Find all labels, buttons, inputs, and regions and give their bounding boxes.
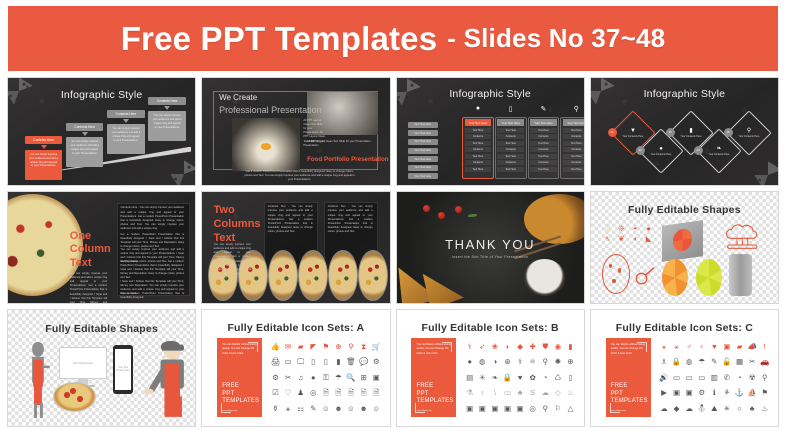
- slide-thumb-two-columns-text[interactable]: Two Columns Text You can simply impress …: [201, 191, 390, 304]
- facebook-icon: ▣: [489, 401, 501, 416]
- header-banner: Free PPT Templates - Slides No 37~48: [8, 6, 778, 71]
- photo-pizza-round: [328, 250, 358, 301]
- phone-icon: ▯: [320, 355, 332, 370]
- accent-text: Food Portfolio Presentation: [307, 156, 388, 163]
- cloud-icon: ☁: [658, 401, 670, 416]
- pin-icon: ⚲: [345, 339, 357, 354]
- table-cell: Text Here: [497, 141, 524, 146]
- scissors-icon: ✂: [746, 355, 758, 370]
- slide-thumb-icon-sets-c[interactable]: Fully Editable Icon Sets: C You can Resi…: [590, 309, 779, 427]
- chart-icon: ◤: [307, 339, 319, 354]
- slide-thumb-icon-sets-a[interactable]: Fully Editable Icon Sets: A You can Resi…: [201, 309, 390, 427]
- card-url: www.allppt.com: [611, 410, 626, 412]
- slide-thumb-infographic-diamonds[interactable]: Infographic Style ▼ Your Contents Here 0…: [590, 77, 779, 186]
- slide-title: Infographic Style: [397, 88, 584, 100]
- diamond-label: Your Contents Here: [709, 153, 730, 156]
- camera-icon: ▣: [721, 339, 733, 354]
- table-cell: Contents: [563, 160, 585, 165]
- price-column[interactable]: Your Text Here Text Here Contents Text H…: [462, 117, 494, 179]
- trophy-icon: ♟: [295, 386, 307, 401]
- diamond-label: Your Contents Here: [651, 153, 672, 156]
- twitter-icon: ▣: [502, 401, 514, 416]
- table-cell: Text Here: [563, 154, 585, 159]
- arrow-down-icon: [164, 106, 170, 110]
- mail-icon: ✉: [282, 339, 294, 354]
- diamond-label: Your Contents Here: [681, 135, 702, 138]
- anchor-icon: ⚓: [734, 386, 746, 401]
- pizza-cutter-icon: [634, 263, 656, 290]
- linkedin-icon: ▣: [464, 401, 476, 416]
- slide-thumb-food-portfolio[interactable]: We Create Professional Presentation All …: [201, 77, 390, 186]
- dna-icon: ◍: [477, 355, 489, 370]
- flag-icon: ⚑: [320, 339, 332, 354]
- slide-title: Infographic Style: [8, 89, 195, 101]
- column-text-2: Contents Text - You can simply impress y…: [328, 205, 373, 234]
- heart-icon: ♥: [709, 339, 721, 354]
- hat-icon: ⚘: [721, 386, 733, 401]
- free-ppt-templates-card: You can Resize without losing quality. Y…: [217, 338, 262, 417]
- flower-icon: ✿: [527, 370, 539, 385]
- apple-icon: ●: [307, 370, 319, 385]
- recycle-icon: ♺: [552, 370, 564, 385]
- table-cell: Contents: [530, 147, 557, 152]
- whisk-icon: ⚲: [747, 127, 751, 134]
- stair-step[interactable]: Contents Here You can simply impress you…: [66, 123, 103, 167]
- cloud-icon: ☁: [683, 401, 695, 416]
- slide-title: Fully Editable Icon Sets: B: [397, 322, 584, 334]
- slide-thumb-thank-you[interactable]: THANK YOU Insert the Sub Title of Your P…: [396, 191, 585, 304]
- tooth-icon: ⚕: [464, 339, 476, 354]
- umbrella-icon: ☂: [333, 370, 345, 385]
- monitor-icon: Your Picture Here: [59, 347, 108, 387]
- cart-icon: 🛒: [370, 339, 382, 354]
- row-label: Your Text Here: [408, 148, 438, 154]
- lock-open-icon: 🔓: [721, 355, 733, 370]
- leaf-icon: ❧: [489, 370, 501, 385]
- briefcase-icon: ▰: [295, 339, 307, 354]
- shirt-icon: ♡: [282, 386, 294, 401]
- document-icon: 🗎: [333, 386, 345, 401]
- water-drop-icon: ◇: [552, 386, 564, 401]
- table-cell: Text Here: [563, 167, 585, 172]
- tablet-icon: ▯: [307, 355, 319, 370]
- thumbs-up-icon: 👍: [270, 339, 282, 354]
- exclamation-icon: !: [759, 339, 771, 354]
- umbrella-icon: ♣: [514, 386, 526, 401]
- person-icon: ⚲: [539, 401, 551, 416]
- banner-subtitle: - Slides No 37~48: [447, 23, 665, 54]
- table-cell: Contents: [465, 160, 492, 165]
- boat-icon: ⛵: [746, 386, 758, 401]
- gear-icon: ⚙: [696, 386, 708, 401]
- document-icon: 🗎: [370, 386, 382, 401]
- slide-title: Fully Editable Icon Sets: C: [591, 322, 778, 334]
- pill-icon: ◑: [489, 355, 501, 370]
- globe-icon: ◍: [683, 355, 695, 370]
- battery-icon: ▯: [565, 370, 577, 385]
- soda-can-icon: [729, 254, 751, 296]
- row-label: Your Text Here: [408, 156, 438, 162]
- table-cell: Text Here: [563, 128, 585, 133]
- bag-icon: ▰: [734, 339, 746, 354]
- table-cell: Text Here: [530, 128, 557, 133]
- document-icon: 🗎: [320, 386, 332, 401]
- gear-icon: ⚙: [370, 355, 382, 370]
- photo-pizza-round: [358, 250, 388, 301]
- table-cell: Text Here: [497, 128, 524, 133]
- price-column[interactable]: Your Text Here Text Here Contents Text H…: [495, 117, 527, 179]
- megaphone-icon: 📣: [746, 339, 758, 354]
- battery-icon: ▮: [333, 355, 345, 370]
- table-cell: Contents: [465, 134, 492, 139]
- heart-icon: ♥: [514, 370, 526, 385]
- monitor-icon: 🖵: [295, 355, 307, 370]
- document-icon: 🗎: [345, 386, 357, 401]
- ppt-template-preview-page: Free PPT Templates - Slides No 37~48 Inf…: [0, 0, 786, 430]
- table-cell: Text Here: [563, 141, 585, 146]
- lead-text: You can simply impress your audience and…: [213, 243, 250, 280]
- virus-icon: ✺: [552, 355, 564, 370]
- free-ppt-templates-card: You can Resize without losing quality. Y…: [606, 338, 651, 417]
- price-column[interactable]: Your Text Here Text Here Contents Text H…: [528, 117, 560, 179]
- card-top-text: You can Resize without losing quality. Y…: [611, 343, 646, 356]
- man-icon: ⚹: [658, 339, 670, 354]
- pizza-slice-icon: ◣: [643, 235, 655, 243]
- play-icon: ▶: [658, 386, 670, 401]
- banner-title: Free PPT Templates: [121, 20, 438, 58]
- table-cell: Contents: [563, 147, 585, 152]
- onion-icon: ◓: [629, 225, 641, 233]
- table-cell: Contents: [465, 147, 492, 152]
- slide-thumb-editable-shapes-people[interactable]: Fully Editable Shapes Your Picture Here: [7, 309, 196, 427]
- stair-step-body: You can simply impress your audience and…: [148, 111, 185, 141]
- slide-thumb-infographic-staircase[interactable]: Infographic Style Contents Here You can …: [7, 77, 196, 186]
- paragraph: Easy to change colors, photos and Text. …: [120, 260, 184, 281]
- barcode-icon: ▥: [709, 370, 721, 385]
- price-column[interactable]: Your Text Here Text Here Contents Text H…: [560, 117, 584, 179]
- cloud-icon: ☁: [539, 386, 551, 401]
- pen-icon: ✎: [528, 105, 560, 113]
- runner-icon: ⚐: [552, 401, 564, 416]
- title-line: Columns: [213, 218, 260, 232]
- glass-icon: ▼: [630, 127, 636, 133]
- woman-icon: ⚹: [671, 339, 683, 354]
- table-cell: Text Here: [465, 167, 492, 172]
- column-text-1: Contents Text - You can simply impress y…: [268, 205, 313, 234]
- slide-thumbnail-grid: Infographic Style Contents Here You can …: [7, 77, 779, 425]
- pizza-box-icon: [662, 220, 703, 261]
- row-label: Your Text Here: [408, 173, 438, 179]
- slide-title: Fully Editable Shapes: [591, 204, 778, 216]
- beaker-icon: ⚗: [464, 386, 476, 401]
- table-cell: Contents: [563, 134, 585, 139]
- slide-heading-line2: Professional Presentation: [219, 105, 322, 115]
- laptop-icon: ▭: [282, 355, 294, 370]
- stair-step[interactable]: Contents Here You can simply impress you…: [25, 136, 62, 180]
- stair-step-body: You can simply impress your audience and…: [107, 124, 144, 154]
- music-icon: ♫: [295, 370, 307, 385]
- card-top-text: You can Resize without losing quality. Y…: [222, 343, 257, 356]
- cherries-icon: ❊: [616, 225, 628, 233]
- whisk-icon: ⚲: [560, 105, 584, 113]
- title-line: Text: [70, 257, 111, 271]
- smiley-icon: ☻: [358, 401, 370, 416]
- column-header: Your Text Here: [497, 119, 524, 126]
- cloud-snow-icon: ⛄: [696, 401, 708, 416]
- dollar-icon: S: [527, 386, 539, 401]
- egg-icon: ●: [659, 146, 663, 152]
- stair-step[interactable]: Contents Here You can simply impress you…: [148, 97, 185, 141]
- syringe-icon: ⚲: [539, 355, 551, 370]
- pizza-icon: [53, 382, 96, 412]
- title-line: Column: [70, 243, 111, 257]
- mountain-icon: ⛰: [709, 401, 721, 416]
- slide-thumb-editable-shapes-food[interactable]: Fully Editable Shapes 🥛 ❊ ◓ ● ➴ ❦ ◖ ◣: [590, 191, 779, 304]
- diamond-label: Your Contents Here: [739, 135, 760, 138]
- column-header: Your Text Here: [563, 119, 585, 126]
- clock-icon: ◔: [734, 370, 746, 385]
- info-icon: ℹ: [709, 386, 721, 401]
- plant-icon: ♁: [477, 386, 489, 401]
- diamond-label: Your Contents Here: [622, 134, 643, 137]
- smartphone-icon: Your Text Picture Here: [113, 345, 134, 394]
- leaf-icon: ❧: [717, 145, 722, 152]
- title-line: One: [70, 230, 111, 244]
- table-cell: Text Here: [530, 167, 557, 172]
- cloud-rain-icon: ◆: [671, 401, 683, 416]
- instagram-icon: ▣: [514, 401, 526, 416]
- tree-icon: ♣: [746, 401, 758, 416]
- slide-subtitle: Insert the Sub Title of Your Presentatio…: [452, 255, 528, 259]
- battery-icon: ▭: [696, 370, 708, 385]
- battery-icon: ▭: [683, 370, 695, 385]
- square-icon: ▣: [370, 370, 382, 385]
- cup-icon: ▯: [495, 105, 527, 113]
- smiley-icon: ☻: [333, 401, 345, 416]
- award-icon: ♗: [658, 355, 670, 370]
- document-icon: 🗎: [358, 386, 370, 401]
- printer-icon: 🖨: [270, 355, 282, 370]
- arrow-down-icon: [123, 119, 129, 123]
- smiley-icon: ☺: [370, 401, 382, 416]
- smiley-icon: ☺: [345, 401, 357, 416]
- diamond-marker: 05: [724, 128, 733, 137]
- circle-icon: ○: [734, 401, 746, 416]
- column-header: Your Text Here: [465, 119, 492, 126]
- photo-pizza-round: [298, 250, 328, 301]
- radiation-icon: ☢: [746, 370, 758, 385]
- pizza-watermark-icon: [751, 158, 779, 186]
- sun-icon: ✳: [477, 370, 489, 385]
- table-cell: Contents: [497, 147, 524, 152]
- body-text-right: All PPT Layout Clean Text Slide for your…: [307, 140, 374, 144]
- flag-icon: ⚑: [759, 386, 771, 401]
- blood-drop-icon: ◆: [514, 339, 526, 354]
- photo-egg-flour: [232, 118, 299, 172]
- row-label: Your Text Here: [408, 122, 438, 128]
- sun-icon: ✳: [721, 401, 733, 416]
- pizza-whole-icon: [602, 254, 630, 294]
- diamond-marker: 01: [608, 128, 617, 137]
- table-cell: Contents: [497, 160, 524, 165]
- battery-icon: ▭: [671, 370, 683, 385]
- thermometer-icon: ▮: [565, 339, 577, 354]
- tomato-icon: ●: [643, 225, 655, 233]
- person-icon: ⚹: [282, 401, 294, 416]
- slide-title: Infographic Style: [591, 88, 778, 100]
- card-big-text: FREE PPT TEMPLATES: [222, 383, 259, 406]
- bone-icon: ➶: [477, 339, 489, 354]
- slide-thumb-one-column-text[interactable]: One Column Text You can simply impress y…: [7, 191, 196, 304]
- video-icon: ▣: [671, 386, 683, 401]
- juice-icon: 🥛: [602, 225, 614, 233]
- stair-step-body: You can simply impress your audience and…: [66, 137, 103, 167]
- arrow-down-icon: [41, 145, 47, 149]
- card-big-text: FREE PPT TEMPLATES: [416, 383, 453, 406]
- card-url: www.allppt.com: [222, 410, 237, 412]
- table-cell: Text Here: [497, 154, 524, 159]
- slide-thumb-icon-sets-b[interactable]: Fully Editable Icon Sets: B You can Resi…: [396, 309, 585, 427]
- trash-icon: 🗑: [345, 355, 357, 370]
- slide-title: Two Columns Text: [213, 204, 260, 245]
- paragraph: Contents Here - You can simply impress y…: [120, 206, 184, 231]
- medical-cross-icon: ✚: [527, 339, 539, 354]
- hourglass-icon: ⧗: [358, 339, 370, 354]
- grid-icon: ⊞: [358, 370, 370, 385]
- corn-icon: ❦: [616, 235, 628, 243]
- pencil-icon: ✎: [307, 401, 319, 416]
- stethoscope-icon: ⚕: [514, 355, 526, 370]
- building-icon: ▦: [734, 355, 746, 370]
- phone-screen-text: Your Text Picture Here: [115, 349, 132, 390]
- slide-title: Fully Editable Icon Sets: A: [202, 322, 389, 334]
- chili-icon: ➴: [602, 235, 614, 243]
- slide-title: THANK YOU: [445, 237, 535, 252]
- fire-icon: ♨: [759, 401, 771, 416]
- umbrella-icon: ☂: [696, 355, 708, 370]
- slide-heading-line1: We Create: [219, 93, 257, 102]
- at-icon: ◎: [527, 401, 539, 416]
- male-symbol-icon: ♂: [683, 339, 695, 354]
- table-cell: Text Here: [530, 141, 557, 146]
- eye-icon: ◉: [552, 339, 564, 354]
- hospital-icon: ▤: [464, 370, 476, 385]
- lime-slice-icon: [696, 259, 722, 297]
- car-icon: 🚗: [759, 355, 771, 370]
- stair-step[interactable]: Contents Here You can simply impress you…: [107, 110, 144, 154]
- cup-icon: ♨: [565, 386, 577, 401]
- table-cell: Text Here: [465, 128, 492, 133]
- lungs-icon: ❀: [489, 339, 501, 354]
- globe-icon: ⊕: [333, 339, 345, 354]
- pen-icon: ✎: [709, 355, 721, 370]
- phone-icon: ✆: [721, 370, 733, 385]
- row-label: Your Text Here: [408, 139, 438, 145]
- table-cell: Contents: [530, 134, 557, 139]
- target-icon: ◎: [307, 386, 319, 401]
- paragraph: Get a modern PowerPoint Presentation tha…: [120, 292, 184, 300]
- thank-you-block: THANK YOU Insert the Sub Title of Your P…: [397, 192, 584, 303]
- lock-icon: 🔒: [671, 355, 683, 370]
- lead-text: You can simply impress your audience and…: [70, 272, 107, 304]
- card-top-text: You can Resize without losing quality. Y…: [416, 343, 451, 356]
- bicycle-icon: ⚙: [270, 370, 282, 385]
- brain-icon: ●: [464, 355, 476, 370]
- row-label: Your Text Here: [408, 165, 438, 171]
- clock-icon: ◔: [539, 370, 551, 385]
- stair-step-head: Contents Here: [66, 123, 103, 131]
- column-header: Your Text Here: [530, 119, 557, 126]
- bandage-icon: ⊛: [502, 355, 514, 370]
- card-url: www.allppt.com: [416, 410, 431, 412]
- pin-icon: ⚲: [759, 370, 771, 385]
- bell-pepper-icon: ◖: [629, 235, 641, 243]
- orange-slice-icon: [662, 259, 688, 297]
- lock-icon: 🔒: [502, 370, 514, 385]
- table-cell: Contents: [530, 160, 557, 165]
- stair-step-head: Contents Here: [25, 136, 62, 144]
- slide-thumb-infographic-table[interactable]: Infographic Style ● ▯ ✎ ⚲ Your Text Here…: [396, 77, 585, 186]
- waitress-icon: [23, 340, 53, 419]
- table-cell: Text Here: [465, 141, 492, 146]
- row-label: Your Text Here: [408, 130, 438, 136]
- title-line: Two: [213, 204, 260, 218]
- chair-icon: ⚏: [295, 401, 307, 416]
- chef-hat-icon: [718, 221, 767, 254]
- wheat-icon: \: [489, 386, 501, 401]
- arrow-down-icon: [82, 132, 88, 136]
- slide-title: One Column Text: [70, 230, 111, 271]
- checkbox-icon: ☑: [270, 386, 282, 401]
- tv-icon: ▭: [502, 386, 514, 401]
- photo-pizza-round: [268, 250, 298, 301]
- table-cell: Text Here: [465, 154, 492, 159]
- warning-icon: △: [565, 401, 577, 416]
- bottle-icon: ▮: [689, 127, 692, 134]
- footer-text: Get a modern PowerPoint Presentation tha…: [243, 170, 355, 183]
- speaker-icon: 🔊: [658, 370, 670, 385]
- bacteria-icon: ⚛: [527, 355, 539, 370]
- plug-icon: ⚱: [270, 401, 282, 416]
- search-icon: 🔍: [345, 370, 357, 385]
- table-cell: Text Here: [530, 154, 557, 159]
- stair-step-head: Contents Here: [107, 110, 144, 118]
- chat-icon: 💬: [358, 355, 370, 370]
- pinterest-icon: ▣: [477, 401, 489, 416]
- scissors-icon: ✂: [282, 370, 294, 385]
- shield-icon: ⛊: [539, 339, 551, 354]
- first-aid-icon: ⊕: [565, 355, 577, 370]
- stair-step-body: You can simply impress your audience and…: [25, 150, 62, 180]
- tomato-icon: ●: [462, 105, 494, 112]
- card-big-text: FREE PPT TEMPLATES: [611, 383, 648, 406]
- diamond-marker: 03: [666, 128, 675, 137]
- table-cell: Contents: [497, 134, 524, 139]
- liver-icon: ◗: [502, 339, 514, 354]
- smiley-icon: ☺: [320, 401, 332, 416]
- key-icon: ⚿: [320, 370, 332, 385]
- free-ppt-templates-card: You can Resize without losing quality. Y…: [411, 338, 456, 417]
- table-cell: Text Here: [497, 167, 524, 172]
- female-symbol-icon: ♀: [696, 339, 708, 354]
- image-icon: ▣: [683, 386, 695, 401]
- chef-icon: [143, 336, 192, 422]
- monitor-screen-text: Your Picture Here: [59, 347, 108, 379]
- slide-title: Fully Editable Shapes: [8, 323, 195, 335]
